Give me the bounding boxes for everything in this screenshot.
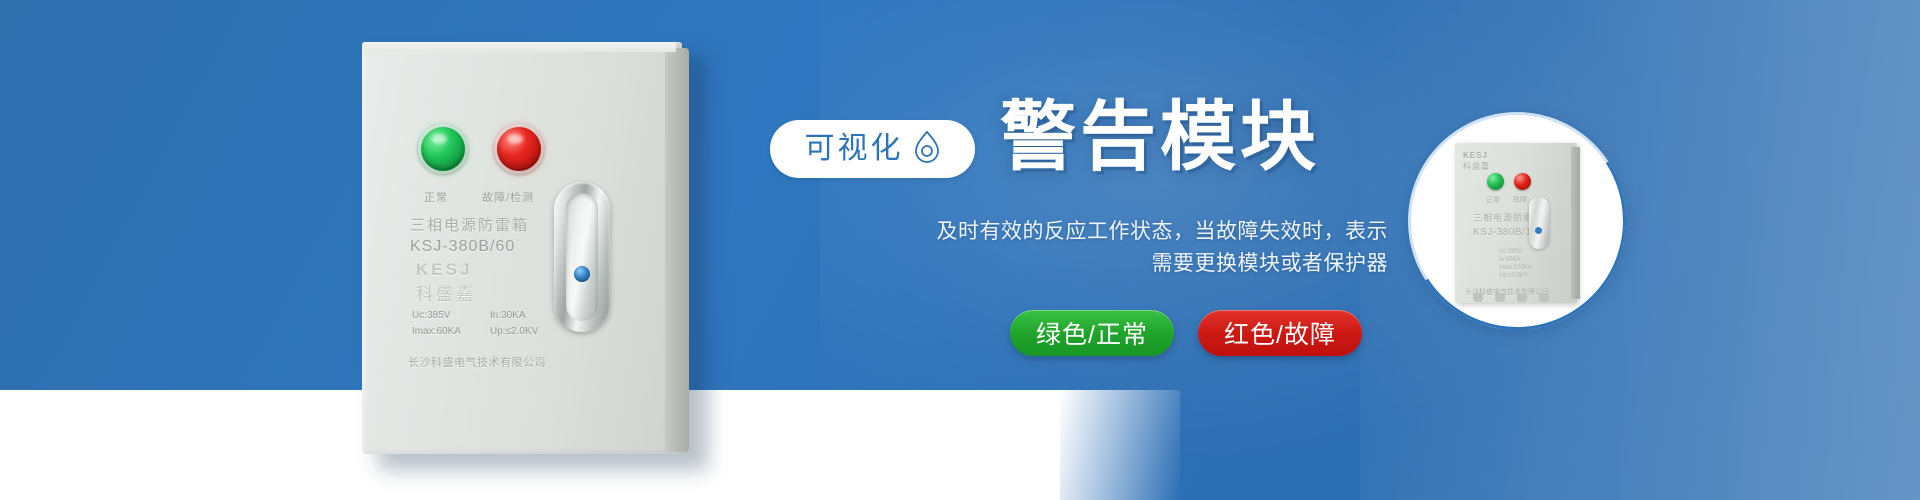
handle-inner xyxy=(566,193,598,321)
inset-cable-gland-1 xyxy=(1473,293,1483,302)
inset-cable-gland-2 xyxy=(1495,293,1505,302)
product-label-fault: 故障/检测 xyxy=(482,189,534,205)
page-title: 警告模块 xyxy=(1000,100,1320,176)
status-badge-fault-label: 红色/故障 xyxy=(1224,315,1336,351)
inset-handle-lock-dot xyxy=(1535,227,1542,234)
inset-circle-frame: KESJ 科盛嘉 正常 故障 三相电源防雷箱 KSJ-380B/120 Uc:3… xyxy=(1408,112,1626,330)
led-normal-green xyxy=(421,127,465,171)
led-bezel-fault xyxy=(494,124,544,174)
led-highlight xyxy=(508,134,523,144)
product-spec-up: Up:≤2.0KV xyxy=(490,326,538,337)
product-brand-en: KESJ xyxy=(416,260,472,280)
led-fault-red xyxy=(497,127,541,171)
product-spec-uc: Uc:385V xyxy=(412,310,450,321)
product-plate-title: 三相电源防雷箱 xyxy=(410,214,529,235)
status-badge-fault: 红色/故障 xyxy=(1198,310,1362,356)
inset-led-normal-green xyxy=(1487,173,1504,190)
inset-cable-gland-4 xyxy=(1539,293,1549,302)
led-bezel-normal xyxy=(418,124,468,174)
led-highlight xyxy=(432,134,447,144)
banner-subtitle: 及时有效的反应工作状态，当故障失效时，表示 需要更换模块或者保护器 xyxy=(770,216,1388,279)
inset-spec-up: Up:≤2.0KV xyxy=(1499,273,1528,279)
handle-lock-dot xyxy=(574,266,590,282)
product-spec-in: In:30KA xyxy=(490,310,526,321)
banner-subtitle-line-2: 需要更换模块或者保护器 xyxy=(770,248,1388,280)
inset-label-normal: 正常 xyxy=(1486,195,1500,205)
inset-cable-gland-3 xyxy=(1517,293,1527,302)
banner-right-light-wedge-2 xyxy=(1620,0,1920,500)
status-badge-group: 绿色/正常 红色/故障 xyxy=(1010,310,1362,356)
inset-label-fault: 故障 xyxy=(1513,195,1527,205)
product-spec-imax: Imax:60KA xyxy=(412,326,461,337)
inset-spec-in: In:60KA xyxy=(1499,257,1520,263)
inset-brand-cn: 科盛嘉 xyxy=(1463,161,1490,172)
product-photo: 正常 故障/检测 三相电源防雷箱 KSJ-380B/60 KESJ 科盛嘉 Uc… xyxy=(362,42,692,460)
inset-spec-imax: Imax:120KA xyxy=(1499,265,1532,271)
status-badge-normal: 绿色/正常 xyxy=(1010,310,1174,356)
inset-enclosure-side-face xyxy=(1571,147,1580,299)
visualization-badge-label: 可视化 xyxy=(805,134,904,164)
diamond-outline-icon xyxy=(913,130,941,169)
banner-white-base-strip-fade xyxy=(1060,390,1180,500)
product-company-name: 长沙科盛电气技术有限公司 xyxy=(408,354,546,370)
product-inset-photo: KESJ 科盛嘉 正常 故障 三相电源防雷箱 KSJ-380B/120 Uc:3… xyxy=(1408,112,1626,330)
promo-banner: 正常 故障/检测 三相电源防雷箱 KSJ-380B/60 KESJ 科盛嘉 Uc… xyxy=(0,0,1920,500)
product-brand-cn: 科盛嘉 xyxy=(416,280,476,305)
banner-subtitle-line-1: 及时有效的反应工作状态，当故障失效时，表示 xyxy=(770,216,1388,248)
visualization-badge: 可视化 xyxy=(770,120,975,178)
status-badge-normal-label: 绿色/正常 xyxy=(1036,315,1148,351)
inset-brand-en: KESJ xyxy=(1463,151,1488,160)
inset-spec-uc: Uc:385V xyxy=(1499,249,1522,255)
product-label-normal: 正常 xyxy=(424,189,448,205)
product-door-handle xyxy=(554,182,610,332)
product-enclosure-top-bevel xyxy=(364,42,676,52)
inset-led-fault-red xyxy=(1514,173,1531,190)
product-enclosure-side-face xyxy=(665,48,689,452)
product-plate-model: KSJ-380B/60 xyxy=(410,238,515,256)
inset-door-handle xyxy=(1529,197,1549,249)
